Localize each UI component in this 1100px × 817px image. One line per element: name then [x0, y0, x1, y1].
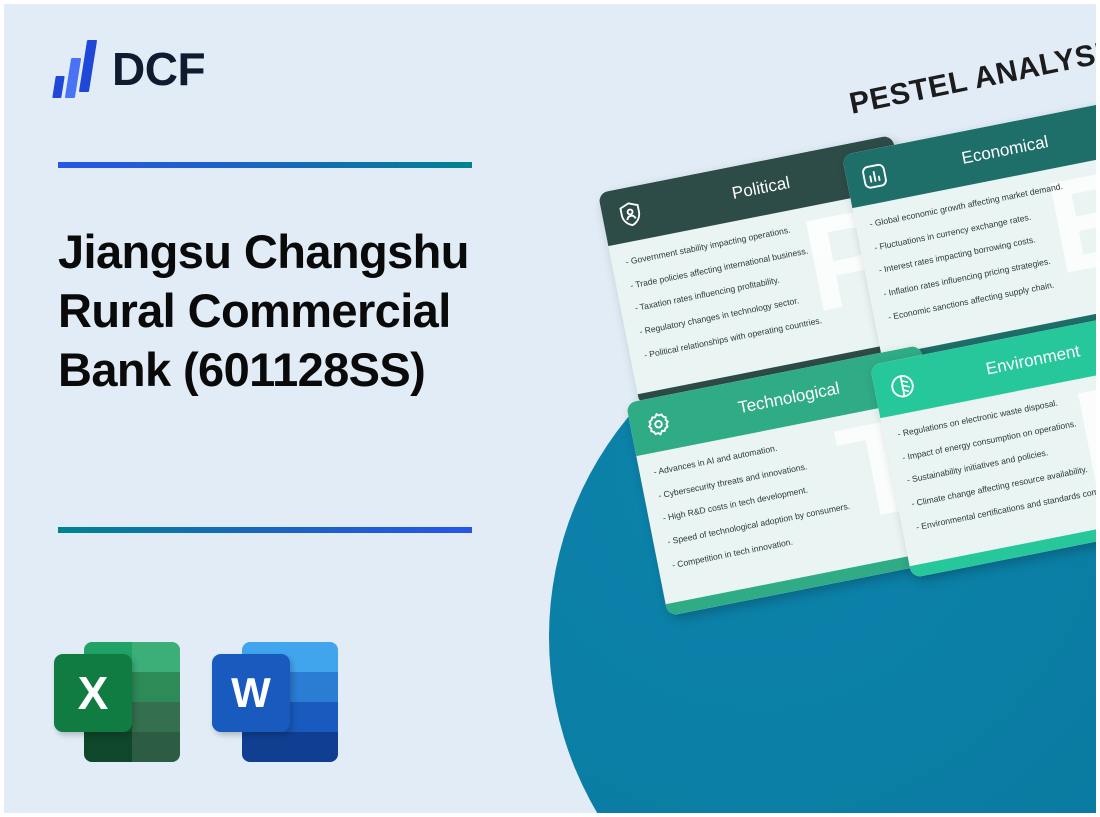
- divider-top: [58, 162, 472, 168]
- word-icon[interactable]: W: [212, 636, 338, 762]
- brand-wordmark: DCF: [112, 46, 205, 92]
- download-icons: X W: [54, 636, 338, 762]
- word-tile-letter: W: [212, 654, 290, 732]
- pestel-heading: PESTEL ANALYSIS: [847, 33, 1100, 122]
- excel-icon[interactable]: X: [54, 636, 180, 762]
- dcf-bars-icon: [52, 40, 98, 98]
- poster-canvas: DCF Jiangsu Changshu Rural Commercial Ba…: [0, 0, 1100, 817]
- brand-logo[interactable]: DCF: [52, 40, 205, 98]
- excel-tile-letter: X: [54, 654, 132, 732]
- page-title: Jiangsu Changshu Rural Commercial Bank (…: [58, 222, 538, 400]
- divider-bottom: [58, 527, 472, 533]
